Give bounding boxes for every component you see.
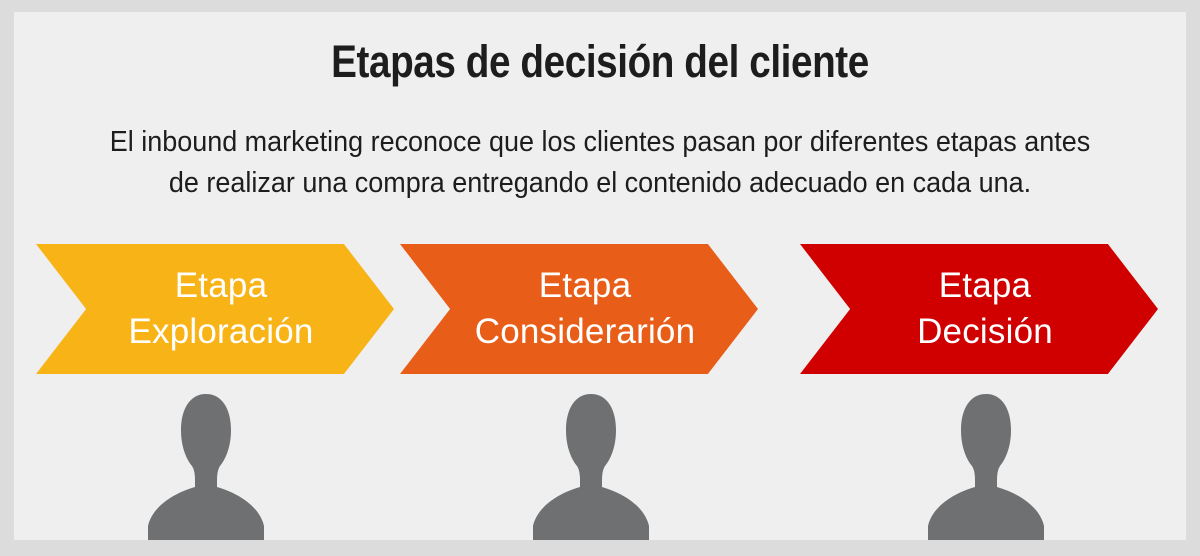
person-silhouette-icon	[126, 390, 286, 540]
stage-label-line-1: Etapa	[917, 263, 1053, 309]
slide-canvas: Etapas de decisión del cliente El inboun…	[14, 12, 1186, 540]
person-silhouette-icon	[906, 390, 1066, 540]
stage-label-consideracion: Etapa Considerarión	[449, 263, 710, 355]
stage-chevron-exploracion[interactable]: Etapa Exploración	[36, 244, 394, 374]
person-icon-row	[14, 390, 1186, 540]
stage-label-line-2: Exploración	[128, 309, 313, 355]
stage-chevron-decision[interactable]: Etapa Decisión	[800, 244, 1158, 374]
slide-frame: Etapas de decisión del cliente El inboun…	[0, 0, 1200, 556]
page-title: Etapas de decisión del cliente	[96, 36, 1104, 88]
stage-label-exploracion: Etapa Exploración	[102, 263, 327, 355]
slide-subtitle: El inbound marketing reconoce que los cl…	[55, 122, 1145, 204]
stage-label-line-1: Etapa	[475, 263, 696, 309]
stage-label-decision: Etapa Decisión	[891, 263, 1067, 355]
stage-chevron-row: Etapa Exploración Etapa Considerarión Et…	[14, 244, 1186, 384]
person-silhouette-icon	[511, 390, 671, 540]
stage-chevron-consideracion[interactable]: Etapa Considerarión	[400, 244, 758, 374]
subtitle-line-1: El inbound marketing reconoce que los cl…	[55, 122, 1145, 163]
stage-label-line-2: Considerarión	[475, 309, 696, 355]
stage-label-line-2: Decisión	[917, 309, 1053, 355]
subtitle-line-2: de realizar una compra entregando el con…	[55, 163, 1145, 204]
stage-label-line-1: Etapa	[128, 263, 313, 309]
